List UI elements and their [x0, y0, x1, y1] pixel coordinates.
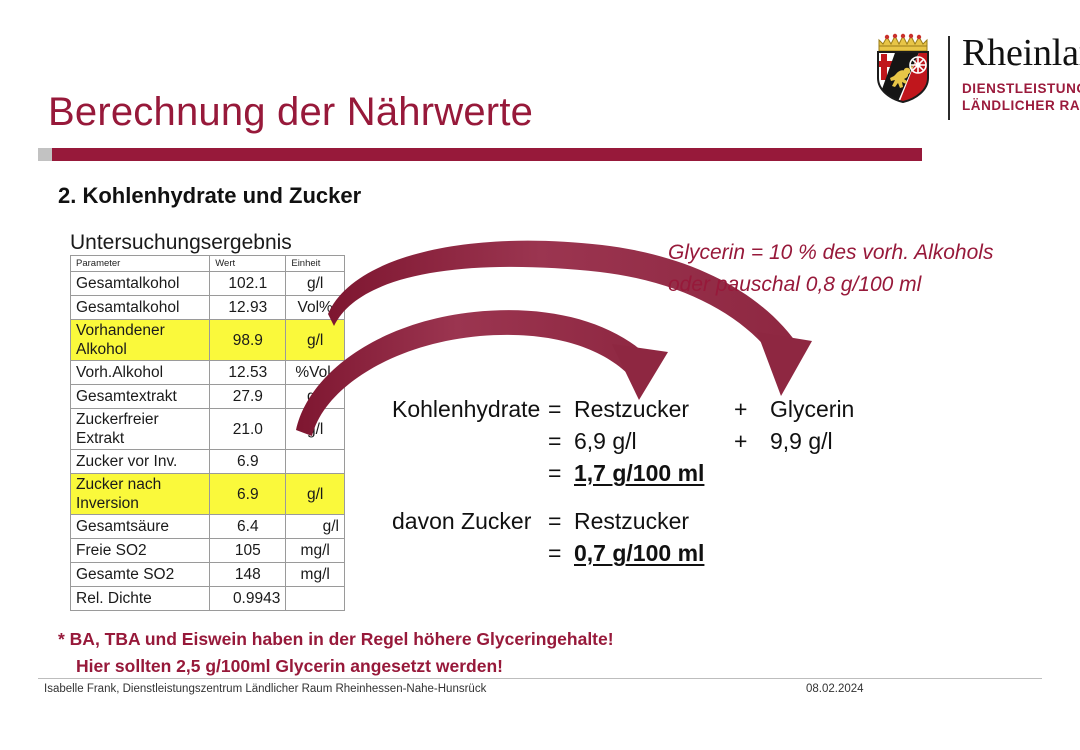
formula-row: = 6,9 g/l + 9,9 g/l: [392, 428, 854, 460]
table-row: Vorhandener Alkohol98.9g/l: [71, 320, 345, 361]
cell-parameter: Vorh.Alkohol: [71, 361, 210, 385]
formula-term-restzucker: Restzucker: [574, 396, 734, 423]
formula-row: = 1,7 g/100 ml: [392, 460, 854, 492]
footer-divider: [38, 678, 1042, 679]
cell-einheit: g/l: [286, 474, 345, 515]
formula-value-restzucker: 6,9 g/l: [574, 428, 734, 455]
cell-parameter: Rel. Dichte: [71, 587, 210, 611]
cell-parameter: Zucker vor Inv.: [71, 450, 210, 474]
table-row: Gesamtalkohol102.1g/l: [71, 272, 345, 296]
glycerin-note-line2: oder pauschal 0,8 g/100 ml: [668, 269, 993, 301]
cell-einheit: g/l: [286, 515, 345, 539]
logo-wordmark: Rheinland-Pfalz DIENSTLEISTUNGSZENTRUM L…: [962, 30, 1080, 114]
cell-wert: 12.93: [210, 296, 286, 320]
table-row: Zuckerfreier Extrakt21.0g/l: [71, 409, 345, 450]
cell-wert: 102.1: [210, 272, 286, 296]
cell-einheit: Vol%: [286, 296, 345, 320]
formula-value-glycerin: 9,9 g/l: [770, 428, 833, 455]
cell-parameter: Zuckerfreier Extrakt: [71, 409, 210, 450]
table-row: Zucker nach Inversion6.9g/l: [71, 474, 345, 515]
cell-wert: 6.4: [210, 515, 286, 539]
formula-result-carbohydrates: 1,7 g/100 ml: [574, 460, 734, 487]
divider-accent-bar: [52, 148, 922, 161]
cell-parameter: Zucker nach Inversion: [71, 474, 210, 515]
cell-parameter: Vorhandener Alkohol: [71, 320, 210, 361]
cell-parameter: Gesamtextrakt: [71, 385, 210, 409]
cell-wert: 12.53: [210, 361, 286, 385]
cell-wert: 98.9: [210, 320, 286, 361]
formula-equals: =: [548, 508, 574, 535]
table-caption: Untersuchungsergebnis: [70, 231, 292, 255]
cell-parameter: Gesamtsäure: [71, 515, 210, 539]
footnote-line2: Hier sollten 2,5 g/100ml Glycerin angese…: [58, 653, 614, 680]
logo-subtitle-line1: DIENSTLEISTUNGSZENTRUM: [962, 80, 1080, 97]
formula-term-restzucker: Restzucker: [574, 508, 734, 535]
footer-author: Isabelle Frank, Dienstleistungszentrum L…: [44, 683, 486, 695]
formula-equals: =: [548, 428, 574, 455]
formula-equals: =: [548, 540, 574, 567]
analysis-results-table: Parameter Wert Einheit Gesamtalkohol102.…: [70, 255, 345, 611]
formula-row: davon Zucker = Restzucker: [392, 508, 734, 540]
formula-row: = 0,7 g/100 ml: [392, 540, 734, 572]
organization-logo: Rheinland-Pfalz DIENSTLEISTUNGSZENTRUM L…: [872, 30, 1080, 140]
formula-row: Kohlenhydrate = Restzucker + Glycerin: [392, 396, 854, 428]
cell-parameter: Freie SO2: [71, 539, 210, 563]
cell-wert: 105: [210, 539, 286, 563]
page-title: Berechnung der Nährwerte: [48, 90, 533, 135]
formula-equals: =: [548, 460, 574, 487]
section-heading: 2. Kohlenhydrate und Zucker: [58, 183, 361, 209]
cell-einheit: g/l: [286, 409, 345, 450]
table-body: Gesamtalkohol102.1g/lGesamtalkohol12.93V…: [71, 272, 345, 611]
formula-sugar: davon Zucker = Restzucker = 0,7 g/100 ml: [392, 508, 734, 572]
slide-canvas: Rheinland-Pfalz DIENSTLEISTUNGSZENTRUM L…: [0, 0, 1080, 750]
formula-result-sugar: 0,7 g/100 ml: [574, 540, 734, 567]
logo-divider: [948, 36, 950, 120]
table-row: Vorh.Alkohol12.53%Vol.: [71, 361, 345, 385]
cell-wert: 6.9: [210, 474, 286, 515]
column-header-wert: Wert: [210, 256, 286, 272]
cell-einheit: mg/l: [286, 563, 345, 587]
column-header-einheit: Einheit: [286, 256, 345, 272]
formula-label-sugar: davon Zucker: [392, 508, 548, 535]
cell-einheit: g/l: [286, 385, 345, 409]
logo-subtitle-line2: LÄNDLICHER RAUM: [962, 97, 1080, 114]
cell-wert: 148: [210, 563, 286, 587]
table-row: Gesamtextrakt27.9g/l: [71, 385, 345, 409]
cell-einheit: %Vol.: [286, 361, 345, 385]
formula-plus: +: [734, 428, 770, 455]
cell-parameter: Gesamtalkohol: [71, 272, 210, 296]
cell-wert: 21.0: [210, 409, 286, 450]
formula-plus: +: [734, 396, 770, 423]
cell-parameter: Gesamte SO2: [71, 563, 210, 587]
cell-einheit: [286, 450, 345, 474]
logo-title: Rheinland-Pfalz: [962, 32, 1080, 74]
cell-wert: 27.9: [210, 385, 286, 409]
formula-equals: =: [548, 396, 574, 423]
footnote-line1: * BA, TBA und Eiswein haben in der Regel…: [58, 626, 614, 653]
cell-wert: 0.9943: [210, 587, 286, 611]
cell-parameter: Gesamtalkohol: [71, 296, 210, 320]
table-row: Zucker vor Inv.6.9: [71, 450, 345, 474]
glycerin-note: Glycerin = 10 % des vorh. Alkohols oder …: [668, 237, 993, 301]
formula-term-glycerin: Glycerin: [770, 396, 854, 423]
cell-wert: 6.9: [210, 450, 286, 474]
table-header-row: Parameter Wert Einheit: [71, 256, 345, 272]
formula-carbohydrates: Kohlenhydrate = Restzucker + Glycerin = …: [392, 396, 854, 492]
table-row: Gesamtsäure6.4g/l: [71, 515, 345, 539]
table-row: Rel. Dichte0.9943: [71, 587, 345, 611]
glycerin-note-line1: Glycerin = 10 % des vorh. Alkohols: [668, 237, 993, 269]
title-divider: [38, 148, 922, 161]
cell-einheit: [286, 587, 345, 611]
cell-einheit: mg/l: [286, 539, 345, 563]
footer-date: 08.02.2024: [806, 683, 864, 695]
table-row: Gesamte SO2148mg/l: [71, 563, 345, 587]
cell-einheit: g/l: [286, 320, 345, 361]
divider-gray-cap: [38, 148, 52, 161]
footnote: * BA, TBA und Eiswein haben in der Regel…: [58, 626, 614, 680]
cell-einheit: g/l: [286, 272, 345, 296]
table-row: Gesamtalkohol12.93Vol%: [71, 296, 345, 320]
column-header-parameter: Parameter: [71, 256, 210, 272]
rhineland-palatinate-coat-of-arms-icon: [872, 30, 934, 104]
table-row: Freie SO2105mg/l: [71, 539, 345, 563]
formula-label-carbohydrates: Kohlenhydrate: [392, 396, 548, 423]
